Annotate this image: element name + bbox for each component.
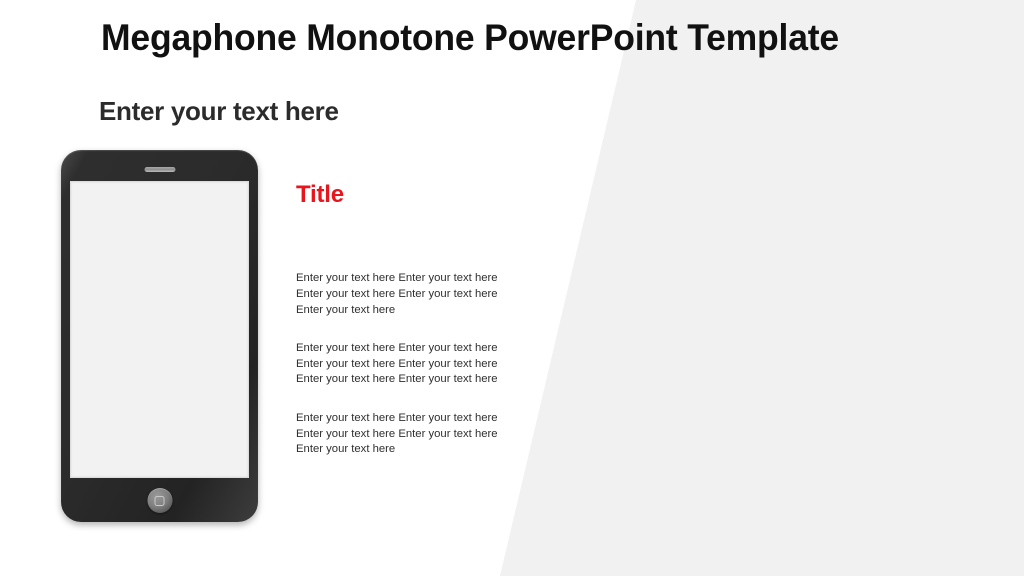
content-paragraph-1: Enter your text here Enter your text her…: [296, 271, 501, 318]
speaker-grille-icon: [144, 167, 175, 172]
tablet-mockup: [61, 150, 258, 522]
home-button-glyph-icon: [155, 496, 165, 506]
slide-title: Megaphone Monotone PowerPoint Template: [101, 17, 839, 59]
device-body: [61, 150, 258, 522]
content-heading: Title: [296, 182, 511, 208]
content-text-column: Title Enter your text here Enter your te…: [296, 182, 511, 458]
home-button[interactable]: [147, 488, 172, 513]
device-screen[interactable]: [70, 181, 249, 478]
content-paragraph-3: Enter your text here Enter your text her…: [296, 411, 501, 458]
slide-subtitle: Enter your text here: [99, 96, 339, 127]
slide-canvas: Megaphone Monotone PowerPoint Template E…: [0, 0, 1024, 576]
content-paragraph-2: Enter your text here Enter your text her…: [296, 341, 501, 388]
